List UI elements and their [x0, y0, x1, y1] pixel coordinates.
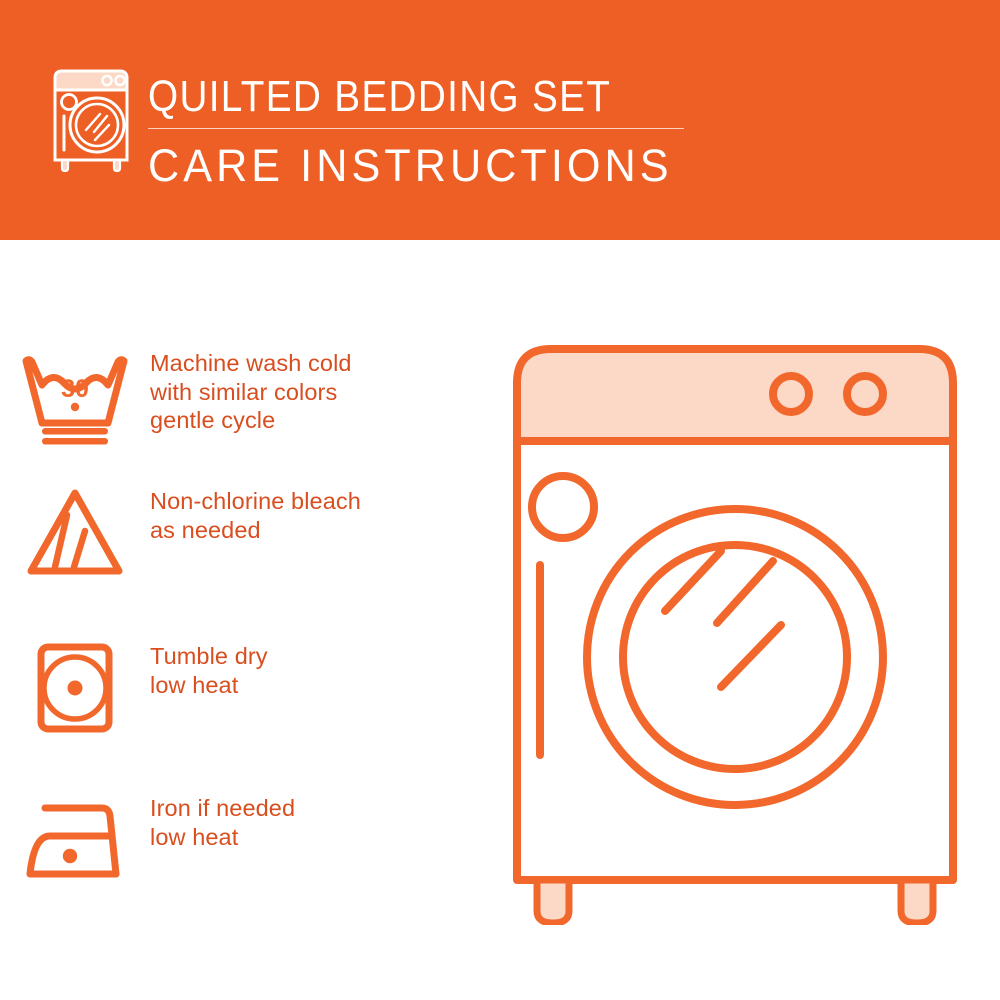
- care-instructions-page: QUILTED BEDDING SET CARE INSTRUCTIONS 30: [0, 0, 1000, 1000]
- care-text-line: low heat: [150, 823, 295, 852]
- leg-right: [901, 880, 933, 923]
- header-text-block: QUILTED BEDDING SET CARE INSTRUCTIONS: [148, 72, 708, 192]
- care-text-line: Tumble dry: [150, 642, 268, 671]
- care-text: Iron if needed low heat: [150, 790, 295, 851]
- control-panel: [517, 349, 953, 441]
- bleach-triangle-symbol: [0, 483, 150, 583]
- washing-machine-icon: [45, 68, 137, 174]
- care-row: Tumble dry low heat: [0, 638, 470, 738]
- header-band: QUILTED BEDDING SET CARE INSTRUCTIONS: [0, 0, 1000, 240]
- care-text-line: Machine wash cold: [150, 349, 352, 378]
- care-text-line: as needed: [150, 516, 361, 545]
- washing-machine-illustration: [495, 335, 975, 925]
- page-title: QUILTED BEDDING SET: [148, 72, 641, 122]
- header-divider: [148, 128, 684, 129]
- wash-tub-symbol: 30: [0, 345, 150, 445]
- care-text: Machine wash cold with similar colors ge…: [150, 345, 352, 435]
- iron-symbol: [0, 790, 150, 890]
- care-text-line: low heat: [150, 671, 268, 700]
- wash-temp-label: 30: [61, 375, 89, 403]
- care-row: 30 Machine wash cold with similar colors…: [0, 345, 470, 445]
- care-text-line: gentle cycle: [150, 406, 352, 435]
- care-text: Non-chlorine bleach as needed: [150, 483, 361, 544]
- care-text-line: with similar colors: [150, 378, 352, 407]
- page-subtitle: CARE INSTRUCTIONS: [148, 140, 686, 192]
- care-text: Tumble dry low heat: [150, 638, 268, 699]
- leg-left: [537, 880, 569, 923]
- care-text-line: Non-chlorine bleach: [150, 487, 361, 516]
- care-row: Iron if needed low heat: [0, 790, 470, 890]
- care-row: Non-chlorine bleach as needed: [0, 483, 470, 583]
- care-text-line: Iron if needed: [150, 794, 295, 823]
- tumble-dry-symbol: [0, 638, 150, 738]
